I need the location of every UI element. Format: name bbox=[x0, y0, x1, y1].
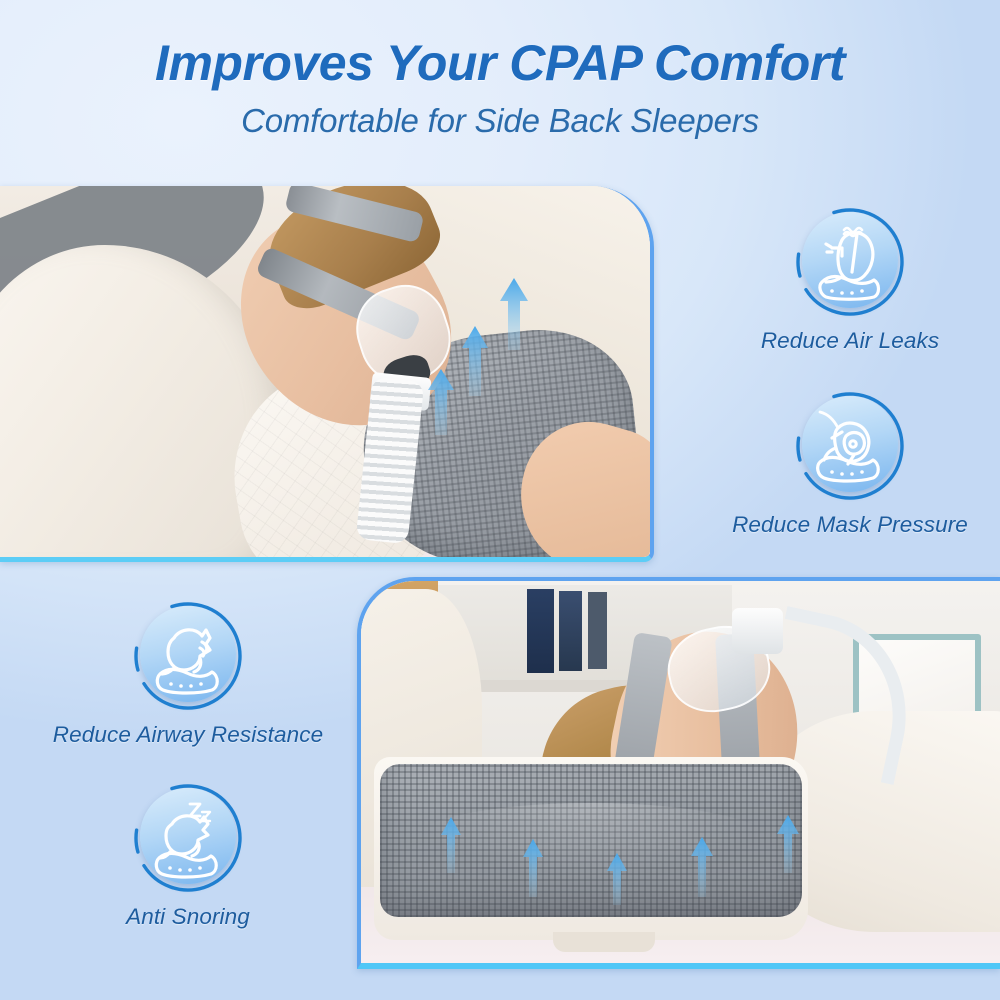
airflow-arrow bbox=[691, 837, 713, 897]
cpap-mask-elbow bbox=[732, 608, 783, 654]
feature-reduce-airway-resistance: Reduce Airway Resistance bbox=[18, 600, 358, 748]
header: Improves Your CPAP Comfort Comfortable f… bbox=[0, 0, 1000, 186]
feature-anti-snoring: Anti Snoring bbox=[58, 782, 318, 930]
head-on-pillow-air-leak-icon bbox=[802, 214, 898, 310]
airflow-arrow bbox=[523, 839, 543, 897]
airflow-arrow bbox=[777, 815, 799, 873]
book bbox=[527, 589, 554, 673]
pillow-foot bbox=[553, 932, 655, 951]
feature-label: Reduce Air Leaks bbox=[761, 328, 939, 354]
back-sleeper-scene bbox=[361, 581, 1000, 963]
badge-reduce-airway-resistance bbox=[132, 600, 244, 712]
product-feature-graphic: Improves Your CPAP Comfort Comfortable f… bbox=[0, 0, 1000, 1000]
book bbox=[588, 592, 607, 668]
badge-anti-snoring bbox=[132, 782, 244, 894]
photo-side-sleeper bbox=[0, 186, 654, 562]
feature-reduce-mask-pressure: Reduce Mask Pressure bbox=[700, 390, 1000, 538]
page-title: Improves Your CPAP Comfort bbox=[155, 36, 845, 90]
book bbox=[559, 591, 582, 671]
pillow-contour-highlight bbox=[412, 803, 770, 879]
airflow-arrow bbox=[500, 278, 528, 350]
head-on-pillow-airway-icon bbox=[140, 608, 236, 704]
badge-reduce-mask-pressure bbox=[794, 390, 906, 502]
airflow-arrow bbox=[607, 853, 627, 905]
airflow-arrow bbox=[462, 326, 488, 396]
side-sleeper-scene bbox=[0, 186, 650, 557]
feature-reduce-air-leaks: Reduce Air Leaks bbox=[700, 206, 1000, 354]
head-on-pillow-zzz-icon bbox=[140, 790, 236, 886]
badge-reduce-air-leaks bbox=[794, 206, 906, 318]
feature-label: Anti Snoring bbox=[126, 904, 250, 930]
feature-label: Reduce Airway Resistance bbox=[53, 722, 323, 748]
feature-label: Reduce Mask Pressure bbox=[732, 512, 968, 538]
airflow-arrow bbox=[441, 817, 461, 873]
page-subtitle: Comfortable for Side Back Sleepers bbox=[241, 102, 759, 140]
photo-back-sleeper bbox=[357, 577, 1000, 969]
airflow-arrow bbox=[428, 369, 454, 435]
head-on-pillow-mask-icon bbox=[802, 398, 898, 494]
